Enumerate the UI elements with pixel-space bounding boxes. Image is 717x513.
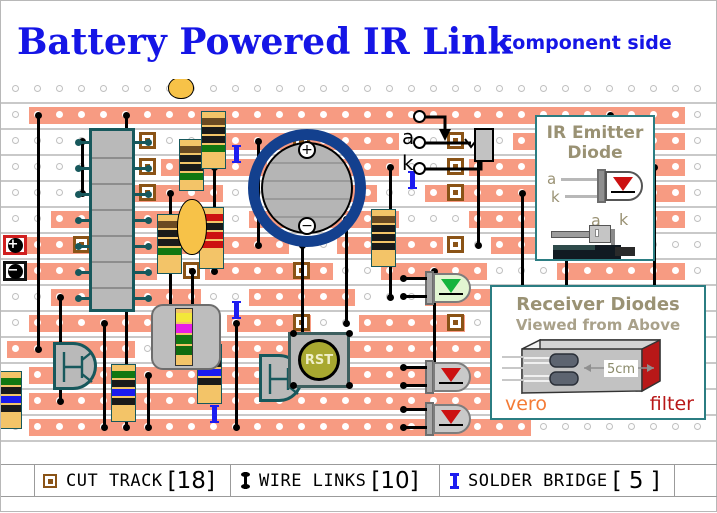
copper-track — [557, 263, 685, 280]
vero-hole — [12, 111, 19, 118]
vero-hole — [452, 397, 459, 404]
reset-button[interactable]: RST — [298, 339, 340, 381]
vero-hole — [364, 293, 371, 300]
vero-hole — [672, 85, 679, 92]
legend-item-cut-track[interactable]: CUT TRACK [18] — [34, 465, 232, 496]
copper-track — [205, 263, 333, 280]
vero-hole — [254, 319, 261, 326]
resistor-color-band — [180, 164, 203, 171]
battery-negative-terminal: − — [298, 217, 316, 235]
vero-hole — [606, 267, 613, 274]
wire-link-pad — [233, 320, 240, 327]
vero-hole — [232, 163, 239, 170]
vero-hole — [694, 423, 701, 430]
vero-hole — [34, 371, 41, 378]
vero-hole — [12, 345, 19, 352]
ir-emitter-pkg-leg-a — [595, 229, 599, 237]
resistor-color-band — [202, 118, 225, 125]
wire-link-pad — [101, 424, 108, 431]
led-lead-pad — [400, 293, 407, 300]
vero-hole — [364, 267, 371, 274]
ic-pin-pad — [75, 165, 82, 172]
vero-hole — [408, 345, 415, 352]
vero-hole — [34, 85, 41, 92]
resistor[interactable] — [371, 209, 396, 267]
screenshot-root: Battery Powered IR Link component side +… — [0, 0, 717, 512]
ir-emitter-pkg-barrel — [551, 231, 593, 238]
vero-hole — [144, 319, 151, 326]
resistor-color-band — [202, 127, 225, 134]
resistor-color-band — [372, 225, 395, 232]
resistor-color-band — [1, 378, 21, 385]
vero-hole — [298, 85, 305, 92]
vero-hole — [694, 163, 701, 170]
vero-hole — [144, 345, 151, 352]
vero-hole — [474, 423, 481, 430]
copper-track — [425, 185, 553, 202]
resistor[interactable] — [111, 364, 136, 422]
wire-link-pad — [519, 190, 526, 197]
ir-emitter-panel: IR Emitter Diode a k a k — [535, 115, 655, 261]
vero-hole — [210, 423, 217, 430]
legend-wire-links-label: WIRE LINKS — [259, 471, 366, 491]
cut-track-marker[interactable] — [447, 236, 464, 253]
ic-pin-pad — [145, 295, 152, 302]
vero-hole — [254, 85, 261, 92]
vero-hole — [12, 215, 19, 222]
vero-hole — [100, 85, 107, 92]
vero-hole — [364, 397, 371, 404]
resistor-color-band — [372, 243, 395, 250]
vero-hole — [342, 85, 349, 92]
title-bar: Battery Powered IR Link component side — [1, 1, 717, 79]
vero-hole — [694, 85, 701, 92]
vero-hole — [650, 423, 657, 430]
ir-emitter-pkg-k-label: k — [619, 210, 628, 229]
vero-hole — [12, 163, 19, 170]
vero-hole — [12, 319, 19, 326]
vero-hole — [474, 319, 481, 326]
resistor-color-band — [180, 155, 203, 162]
ic-body-line — [92, 209, 132, 211]
vero-hole — [364, 163, 371, 170]
vero-hole — [56, 111, 63, 118]
led-cathode-bar — [439, 382, 463, 384]
vero-hole — [342, 397, 349, 404]
wire-link-pad — [57, 294, 64, 301]
power-negative-marker: − — [3, 261, 27, 281]
led-lead-pad — [400, 364, 407, 371]
battery-face-line — [263, 162, 351, 164]
vero-hole — [78, 319, 85, 326]
ir-link-cathode-label: k — [402, 151, 414, 175]
vero-hole — [386, 345, 393, 352]
vero-hole — [12, 189, 19, 196]
vero-hole — [12, 137, 19, 144]
wire-link[interactable] — [235, 323, 238, 427]
vero-hole — [518, 137, 525, 144]
vero-hole — [386, 137, 393, 144]
vero-hole — [364, 319, 371, 326]
vero-strip-rule — [1, 102, 716, 104]
vero-hole — [408, 397, 415, 404]
vero-hole — [474, 85, 481, 92]
vero-hole — [166, 163, 173, 170]
vero-hole — [276, 293, 283, 300]
vero-hole — [232, 111, 239, 118]
vero-hole — [276, 85, 283, 92]
vero-hole — [166, 137, 173, 144]
vero-hole — [188, 111, 195, 118]
resistor-color-band — [158, 248, 181, 255]
vero-hole — [56, 215, 63, 222]
vero-hole — [298, 423, 305, 430]
vero-hole — [210, 85, 217, 92]
vero-hole — [430, 215, 437, 222]
led-triangle-icon — [441, 410, 461, 424]
ir-emitter-lead-a-wire — [561, 178, 599, 181]
vero-hole — [672, 241, 679, 248]
resistor-color-band — [112, 371, 135, 378]
vero-hole — [562, 423, 569, 430]
battery-face-line — [263, 198, 351, 200]
battery-face-line — [263, 180, 351, 182]
vero-hole — [78, 397, 85, 404]
legend-cut-track-count: [18] — [168, 468, 215, 494]
vero-hole — [540, 85, 547, 92]
vero-hole — [694, 215, 701, 222]
vero-hole — [254, 345, 261, 352]
resistor-color-band — [180, 146, 203, 153]
vero-hole — [100, 111, 107, 118]
led-triangle-icon — [613, 177, 633, 191]
vero-hole — [386, 111, 393, 118]
vero-hole — [386, 319, 393, 326]
vero-hole — [408, 85, 415, 92]
vero-hole — [408, 319, 415, 326]
vero-hole — [496, 85, 503, 92]
ic-pin-pad — [145, 243, 152, 250]
vero-hole — [144, 111, 151, 118]
cut-track-marker[interactable] — [447, 314, 464, 331]
solder-bridge-marker[interactable] — [234, 301, 239, 319]
capacitor[interactable] — [177, 199, 207, 255]
resistor-color-band — [372, 216, 395, 223]
resistor[interactable] — [201, 111, 226, 169]
vero-hole — [364, 241, 371, 248]
vero-hole — [342, 111, 349, 118]
sensor-module-bands — [175, 308, 193, 366]
solder-bridge-marker[interactable] — [234, 145, 239, 163]
vero-hole — [320, 267, 327, 274]
vero-hole — [320, 423, 327, 430]
vero-hole — [56, 137, 63, 144]
ic-pin-pad — [75, 243, 82, 250]
resistor-color-band — [372, 234, 395, 241]
vero-hole — [276, 111, 283, 118]
resistor-color-band — [1, 405, 21, 412]
vero-hole — [496, 423, 503, 430]
vero-hole — [364, 423, 371, 430]
ic-pin-pad — [75, 139, 82, 146]
ir-emitter-lead-a-label: a — [547, 170, 556, 188]
vero-hole — [166, 111, 173, 118]
vero-hole — [672, 137, 679, 144]
capacitor[interactable] — [168, 79, 194, 99]
ic-body-line — [92, 235, 132, 237]
vero-hole — [364, 137, 371, 144]
vero-hole — [694, 241, 701, 248]
vero-hole — [474, 345, 481, 352]
vero-hole — [474, 397, 481, 404]
vero-hole — [518, 111, 525, 118]
ir-emitter-photo-lead — [615, 247, 635, 256]
vero-hole — [474, 293, 481, 300]
ir-emitter-led-symbol — [597, 171, 643, 201]
ic-pin-pad — [145, 191, 152, 198]
vero-hole — [364, 345, 371, 352]
legend-bar: CUT TRACK [18] WIRE LINKS [10] SOLDER BR… — [1, 457, 717, 513]
vero-hole — [408, 189, 415, 196]
resistor-color-band — [198, 369, 221, 376]
ic-body-line — [92, 261, 132, 263]
vero-hole — [672, 423, 679, 430]
receiver-title-line1: Receiver Diodes — [492, 294, 704, 315]
vero-hole — [364, 111, 371, 118]
copper-track — [337, 341, 509, 358]
resistor-color-band — [1, 396, 21, 403]
ic-pin-pad — [75, 191, 82, 198]
ic-pin-pad — [75, 217, 82, 224]
wire-link[interactable] — [147, 375, 150, 427]
ic-pin-pad — [75, 295, 82, 302]
vero-hole — [12, 85, 19, 92]
vero-hole — [518, 163, 525, 170]
vero-hole — [650, 85, 657, 92]
resistor-color-band — [180, 173, 203, 180]
legend-item-wire-links[interactable]: WIRE LINKS [10] — [230, 465, 443, 496]
vero-hole — [78, 423, 85, 430]
vero-hole — [606, 423, 613, 430]
vero-hole — [188, 371, 195, 378]
sensor-module-band — [176, 335, 192, 344]
vero-hole — [232, 293, 239, 300]
vero-strip-rule — [1, 440, 716, 442]
vero-hole — [56, 241, 63, 248]
led-triangle-icon — [441, 368, 461, 382]
vero-hole — [694, 137, 701, 144]
led-cathode-bar — [611, 191, 635, 193]
vero-hole — [584, 85, 591, 92]
transistor-symbol-icon — [58, 346, 98, 388]
indicator-led[interactable] — [425, 273, 471, 303]
led-cathode-bar — [439, 424, 463, 426]
led-lead-pad — [400, 424, 407, 431]
vero-hole — [188, 397, 195, 404]
vero-hole — [518, 423, 525, 430]
vero-hole — [320, 293, 327, 300]
reset-button-pad — [346, 382, 353, 389]
indicator-led[interactable] — [425, 362, 471, 392]
wire-link-pad — [123, 112, 130, 119]
vero-hole — [672, 163, 679, 170]
ic-pin-pad — [145, 139, 152, 146]
vero-hole — [562, 85, 569, 92]
vero-hole — [34, 423, 41, 430]
wire-link[interactable] — [345, 219, 348, 323]
vero-hole — [628, 423, 635, 430]
receiver-vero-label: vero — [505, 393, 547, 415]
receiver-title-line2: Viewed from Above — [492, 316, 704, 334]
vero-hole — [474, 267, 481, 274]
vero-hole — [276, 241, 283, 248]
svg-text:5cm: 5cm — [607, 362, 635, 377]
vero-hole — [408, 371, 415, 378]
solder-bridge-icon — [450, 473, 459, 489]
resistor-color-band — [202, 145, 225, 152]
vero-hole — [452, 215, 459, 222]
solder-bridge-marker[interactable] — [212, 405, 217, 423]
vero-hole — [408, 215, 415, 222]
ic-body-line — [92, 157, 132, 159]
legend-item-solder-bridge[interactable]: SOLDER BRIDGE [ 5 ] — [439, 465, 675, 496]
cut-track-icon — [43, 474, 57, 488]
led-cathode-bar — [439, 293, 463, 295]
ic-chip[interactable] — [89, 128, 135, 312]
ic-pin-pad — [145, 217, 152, 224]
vero-hole — [386, 423, 393, 430]
vero-hole — [232, 85, 239, 92]
vero-hole — [298, 111, 305, 118]
vero-hole — [672, 215, 679, 222]
led-lead-pad — [400, 275, 407, 282]
ic-pin-pad — [145, 269, 152, 276]
vero-hole — [364, 85, 371, 92]
vero-hole — [474, 371, 481, 378]
vero-hole — [320, 111, 327, 118]
vero-hole — [276, 267, 283, 274]
wire-link-pad — [167, 190, 174, 197]
vero-hole — [540, 267, 547, 274]
wire-link-pad — [35, 346, 42, 353]
vero-hole — [408, 267, 415, 274]
page-subtitle: component side — [501, 32, 672, 54]
power-positive-marker-glyph: + — [8, 238, 23, 253]
vero-hole — [56, 267, 63, 274]
vero-hole — [188, 423, 195, 430]
reset-button-pad — [290, 382, 297, 389]
vero-hole — [430, 241, 437, 248]
vero-hole — [56, 163, 63, 170]
resistor-color-band — [112, 398, 135, 405]
vero-hole — [276, 423, 283, 430]
legend-solder-bridge-count: [ 5 ] — [613, 468, 660, 494]
wire-link-pad — [475, 242, 482, 249]
vero-hole — [320, 319, 327, 326]
sensor-module-band — [176, 324, 192, 333]
vero-hole — [320, 397, 327, 404]
legend-cut-track-label: CUT TRACK — [66, 471, 163, 491]
wire-link-pad — [387, 294, 394, 301]
battery-positive-terminal: + — [298, 141, 316, 159]
wire-link-pad — [233, 424, 240, 431]
vero-hole — [232, 189, 239, 196]
vero-hole — [496, 267, 503, 274]
vero-hole — [672, 189, 679, 196]
vero-hole — [540, 423, 547, 430]
ir-emitter-lead-k-wire — [565, 195, 599, 198]
vero-hole — [144, 85, 151, 92]
wire-link-pad — [343, 320, 350, 327]
vero-hole — [386, 85, 393, 92]
vero-hole — [496, 215, 503, 222]
vero-hole — [166, 371, 173, 378]
vero-hole — [232, 267, 239, 274]
vero-hole — [364, 371, 371, 378]
receiver-filter-label: filter — [650, 393, 694, 415]
vero-hole — [430, 85, 437, 92]
wire-link-pad — [123, 424, 130, 431]
vero-hole — [584, 423, 591, 430]
reset-button-pad — [346, 330, 353, 337]
vero-hole — [342, 423, 349, 430]
legend-solder-bridge-label: SOLDER BRIDGE — [468, 471, 608, 491]
vero-hole — [496, 189, 503, 196]
led-triangle-icon — [441, 279, 461, 293]
ir-link-anode-label: a — [402, 125, 414, 149]
transistor[interactable] — [53, 342, 97, 390]
ic-pin-pad — [75, 269, 82, 276]
led-lead-pad — [400, 406, 407, 413]
wire-link[interactable] — [37, 115, 40, 349]
vero-hole — [254, 293, 261, 300]
vero-hole — [232, 241, 239, 248]
ir-emitter-photo-highlight — [553, 245, 595, 250]
vero-hole — [254, 423, 261, 430]
vero-hole — [232, 137, 239, 144]
wire-link-pad — [255, 242, 262, 249]
ir-emitter-pkg-head — [589, 225, 611, 243]
vero-hole — [584, 267, 591, 274]
vero-hole — [122, 85, 129, 92]
wire-link-pad — [145, 372, 152, 379]
vero-hole — [452, 85, 459, 92]
indicator-led[interactable] — [425, 404, 471, 434]
vero-hole — [694, 189, 701, 196]
vero-hole — [386, 397, 393, 404]
vero-hole — [672, 267, 679, 274]
vero-hole — [34, 397, 41, 404]
vero-hole — [254, 111, 261, 118]
vero-hole — [694, 111, 701, 118]
vero-hole — [320, 85, 327, 92]
vero-hole — [56, 189, 63, 196]
wire-link[interactable] — [103, 323, 106, 427]
resistor-color-band — [202, 136, 225, 143]
resistor-color-band — [112, 389, 135, 396]
reset-button-pad — [290, 330, 297, 337]
ir-emitter-title-line1: IR Emitter — [537, 123, 653, 143]
vero-hole — [430, 189, 437, 196]
vero-hole — [78, 111, 85, 118]
vero-hole — [276, 319, 283, 326]
vero-hole — [56, 85, 63, 92]
ic-body-line — [92, 287, 132, 289]
resistor[interactable] — [1, 371, 22, 429]
vero-hole — [386, 371, 393, 378]
vero-hole — [518, 85, 525, 92]
vero-hole — [694, 267, 701, 274]
